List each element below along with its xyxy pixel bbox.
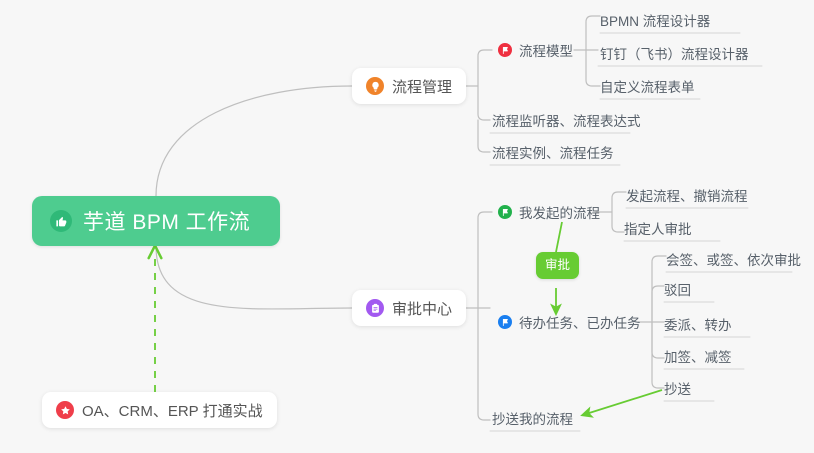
node-reject[interactable]: 驳回 [658,277,697,301]
node-label: 抄送我的流程 [492,408,573,428]
branch-label: 流程管理 [392,76,452,97]
branch-approval-center[interactable]: 审批中心 [352,290,466,326]
node-custom-process-form[interactable]: 自定义流程表单 [594,74,701,98]
node-bpmn-designer[interactable]: BPMN 流程设计器 [594,8,716,32]
star-icon [56,401,74,419]
node-dingtalk-feishu-designer[interactable]: 钉钉（飞书）流程设计器 [594,41,755,65]
mindmap-canvas: 芋道 BPM 工作流 流程管理 流程模型 BPMN 流程设计器 钉钉（飞书）流程… [0,0,814,453]
node-label: 驳回 [664,279,691,299]
node-label: 指定人审批 [624,218,692,238]
lightbulb-icon [366,77,384,95]
node-label: 流程实例、流程任务 [492,142,614,162]
bottom-callout-card[interactable]: OA、CRM、ERP 打通实战 [42,392,277,428]
node-my-initiated-process[interactable]: 我发起的流程 [492,200,606,224]
node-label: BPMN 流程设计器 [600,10,710,30]
node-cc-to-me-process[interactable]: 抄送我的流程 [486,406,579,430]
node-label: 会签、或签、依次审批 [666,249,801,269]
branch-label: 审批中心 [392,298,452,319]
node-start-cancel-process[interactable]: 发起流程、撤销流程 [620,183,754,207]
node-label: 加签、减签 [664,346,732,366]
branch-process-management[interactable]: 流程管理 [352,68,466,104]
node-add-remove-sign[interactable]: 加签、减签 [658,344,738,368]
node-label: 流程模型 [519,40,573,60]
node-process-instance-task[interactable]: 流程实例、流程任务 [486,140,620,164]
node-label: 委派、转办 [664,314,732,334]
node-countersign-or-sequential[interactable]: 会签、或签、依次审批 [660,247,807,271]
node-label: 自定义流程表单 [600,76,695,96]
node-process-listener-expression[interactable]: 流程监听器、流程表达式 [486,108,647,132]
flag-green-icon [498,205,512,219]
node-delegate-transfer[interactable]: 委派、转办 [658,312,738,336]
root-label: 芋道 BPM 工作流 [83,206,250,236]
node-label: 发起流程、撤销流程 [626,185,748,205]
thumbs-up-icon [50,210,72,232]
node-label: 流程监听器、流程表达式 [492,110,641,130]
root-node[interactable]: 芋道 BPM 工作流 [32,196,280,246]
node-cc[interactable]: 抄送 [658,376,697,400]
node-label: 抄送 [664,378,691,398]
node-assignee-approval[interactable]: 指定人审批 [618,216,698,240]
node-label: 我发起的流程 [519,202,600,222]
node-label: 待办任务、已办任务 [519,312,641,332]
flag-blue-icon [498,315,512,329]
node-todo-done-tasks[interactable]: 待办任务、已办任务 [492,310,647,334]
node-process-model[interactable]: 流程模型 [492,38,579,62]
node-label: 钉钉（飞书）流程设计器 [600,43,749,63]
flag-red-icon [498,43,512,57]
clipboard-icon [366,299,384,317]
bottom-callout-label: OA、CRM、ERP 打通实战 [82,400,263,421]
approval-pill: 审批 [536,252,579,279]
